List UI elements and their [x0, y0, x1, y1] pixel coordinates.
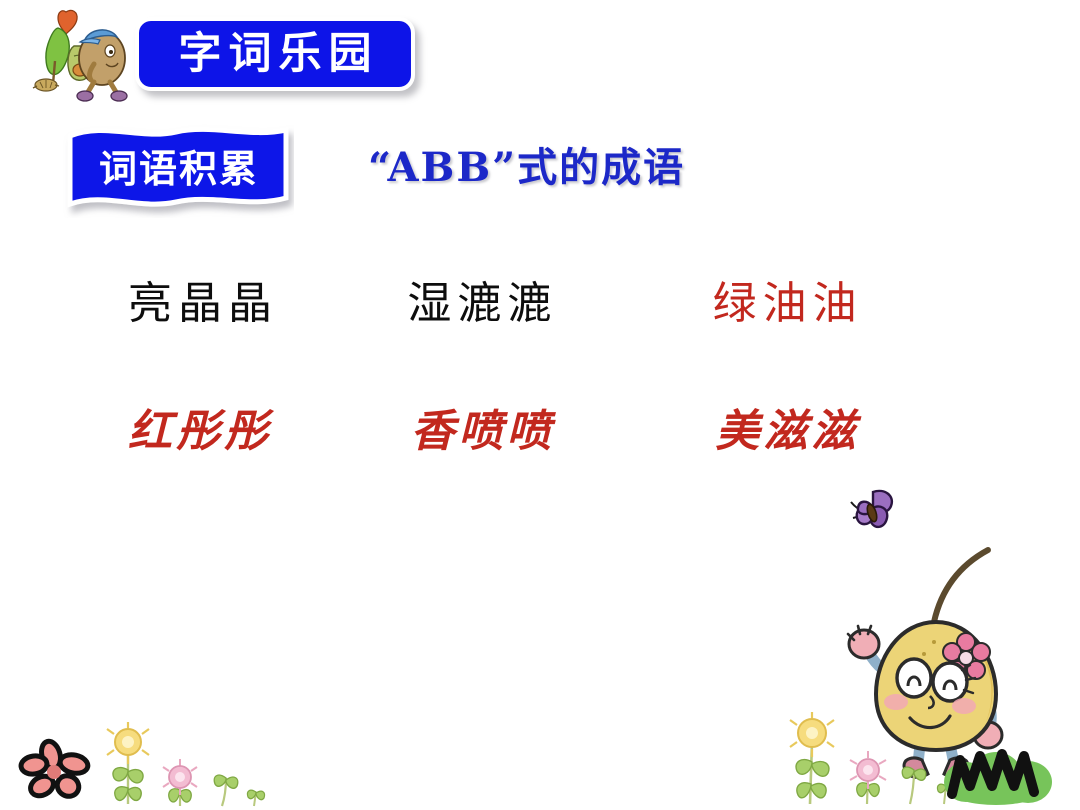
word-item: 香喷喷 [383, 410, 666, 454]
section-heading: “ABB”式的成语 [368, 148, 685, 188]
flag-banner-label: 词语积累 [62, 122, 294, 218]
word-item: 美滋滋 [665, 410, 970, 454]
flowers-and-sprouts-icon [780, 712, 960, 808]
title-banner: 字词乐园 [135, 17, 415, 91]
word-grid: 亮晶晶 湿漉漉 绿油油 红彤彤 香喷喷 美滋滋 [110, 282, 970, 538]
slide-canvas: 字词乐园 词语积累 “ABB”式的成语 亮晶晶 湿漉漉 绿油油 红彤彤 香喷喷 … [0, 0, 1080, 810]
title-banner-label: 字词乐园 [172, 33, 379, 76]
green-grass-patch-icon [940, 742, 1072, 806]
flowers-and-sprouts-icon [98, 722, 268, 808]
walking-egg-character-icon [22, 6, 134, 106]
flag-banner: 词语积累 [62, 122, 294, 218]
word-row: 亮晶晶 湿漉漉 绿油油 [110, 282, 970, 410]
word-item: 亮晶晶 [110, 282, 385, 326]
word-row: 红彤彤 香喷喷 美滋滋 [110, 410, 970, 538]
word-item: 绿油油 [665, 282, 970, 326]
word-item: 红彤彤 [110, 410, 383, 454]
pink-flower-icon [18, 738, 96, 804]
word-item: 湿漉漉 [385, 282, 664, 326]
